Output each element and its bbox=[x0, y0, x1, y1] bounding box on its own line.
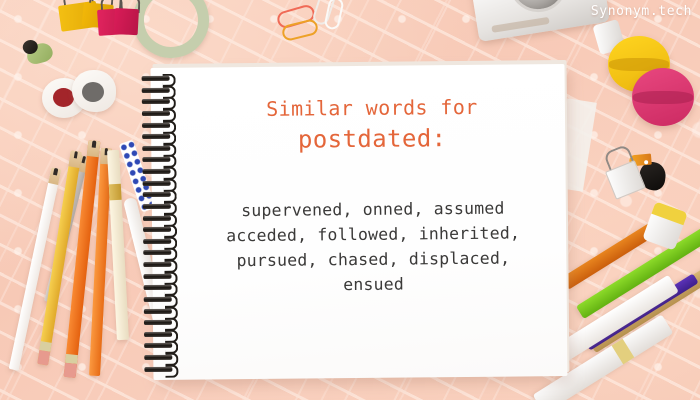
eraser-grey bbox=[72, 70, 116, 112]
spiral-ring bbox=[142, 99, 174, 104]
spiral-ring bbox=[142, 169, 174, 174]
synonym-line: ensued bbox=[194, 271, 552, 299]
camera-grip bbox=[491, 17, 549, 33]
spiral-ring bbox=[144, 320, 176, 325]
spiral-ring bbox=[144, 366, 176, 371]
spiral-notebook: Similar words for postdated: supervened,… bbox=[151, 64, 568, 380]
spiral-ring bbox=[142, 76, 174, 81]
synonym-line: pursued, chased, displaced, bbox=[194, 246, 552, 274]
spiral-ring bbox=[142, 146, 174, 151]
spiral-ring bbox=[144, 343, 176, 348]
synonym-list: supervened, onned, assumed acceded, foll… bbox=[194, 196, 553, 299]
page-title-word: postdated: bbox=[193, 121, 551, 157]
page-title-line1: Similar words for bbox=[193, 94, 551, 121]
spiral-ring bbox=[143, 262, 175, 267]
macaron-pink bbox=[632, 68, 694, 126]
spiral-ring bbox=[142, 157, 174, 162]
screenshot-root: Similar words for postdated: supervened,… bbox=[0, 0, 700, 400]
spiral-ring bbox=[143, 239, 175, 244]
spiral-ring bbox=[143, 273, 175, 278]
spiral-ring bbox=[143, 192, 175, 197]
spiral-ring bbox=[143, 250, 175, 255]
spiral-ring bbox=[144, 355, 176, 360]
camera-lens bbox=[505, 0, 571, 16]
spiral-ring bbox=[142, 111, 174, 116]
spiral-ring bbox=[142, 122, 174, 127]
spiral-ring bbox=[144, 285, 176, 290]
spiral-ring bbox=[143, 227, 175, 232]
spiral-ring bbox=[143, 180, 175, 185]
spiral-ring bbox=[144, 308, 176, 313]
spiral-ring bbox=[142, 87, 174, 92]
synonym-line: supervened, onned, assumed bbox=[194, 196, 552, 224]
synonym-line: acceded, followed, inherited, bbox=[194, 221, 552, 249]
spiral-binding bbox=[142, 76, 179, 372]
spiral-ring bbox=[143, 215, 175, 220]
spiral-ring bbox=[144, 297, 176, 302]
site-logo: Synonym.tech bbox=[591, 4, 692, 19]
page-content: Similar words for postdated: supervened,… bbox=[193, 94, 553, 299]
spiral-ring bbox=[142, 134, 174, 139]
spiral-ring bbox=[144, 332, 176, 337]
spiral-ring bbox=[143, 204, 175, 209]
